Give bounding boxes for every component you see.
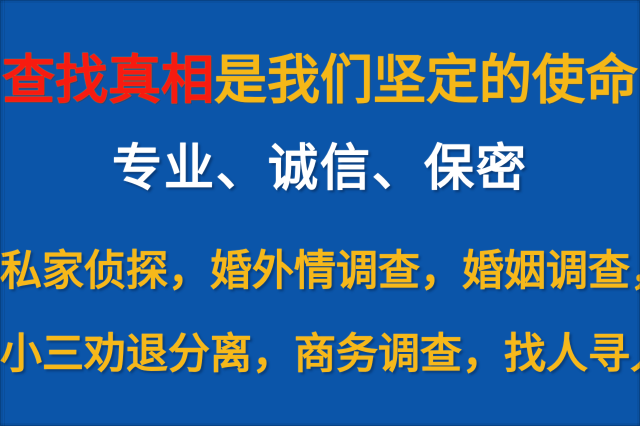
headline-highlight: 查找真相 [2, 50, 214, 111]
headline-text: 查找真相是我们坚定的使命 [0, 54, 640, 107]
values-text: 专业、诚信、保密 [0, 143, 640, 193]
headline-remainder: 是我们坚定的使命 [214, 50, 638, 111]
services-text-line-2: 小三劝退分离，商务调查，找人寻人 [0, 333, 640, 375]
services-text-line-1: 私家侦探，婚外情调查，婚姻调查， [0, 250, 640, 292]
advertisement-banner: 查找真相是我们坚定的使命 专业、诚信、保密 私家侦探，婚外情调查，婚姻调查， 小… [0, 0, 640, 426]
